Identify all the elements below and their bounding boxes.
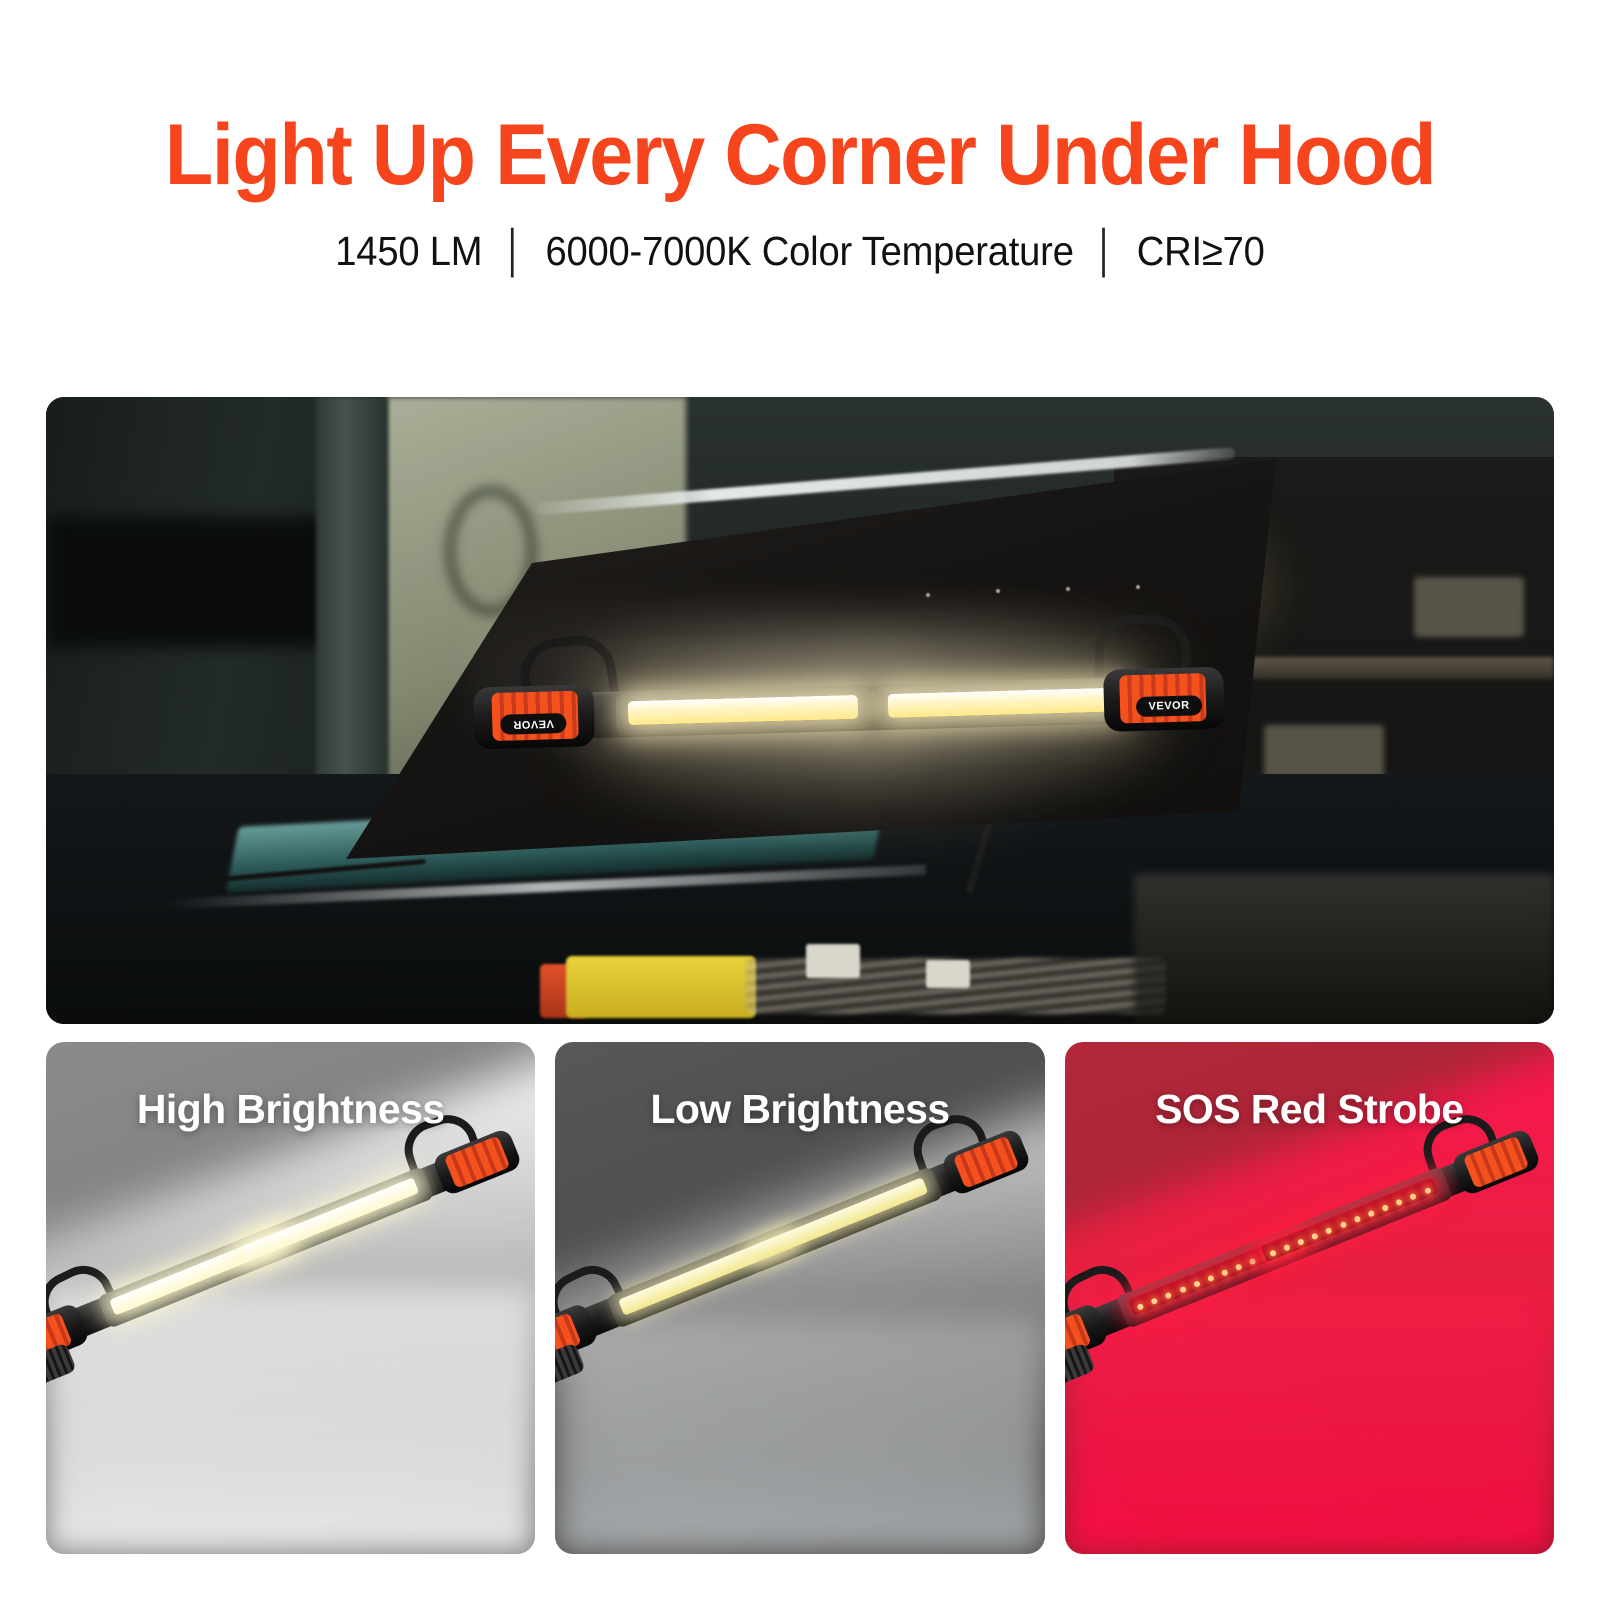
harness-connector: [806, 944, 860, 978]
mode-card-low-brightness: Low Brightness: [555, 1042, 1044, 1554]
spec-separator-2: │: [1084, 228, 1126, 275]
cob-led-strip: [241, 1177, 419, 1262]
center-hinge: [860, 690, 887, 725]
brand-text: VEVOR: [1148, 700, 1189, 712]
page-title: Light Up Every Corner Under Hood: [64, 112, 1536, 198]
mode-card-sos-red-strobe: SOS Red Strobe: [1065, 1042, 1554, 1554]
spec-lumens: 1450 LM: [335, 228, 482, 274]
header: Light Up Every Corner Under Hood 1450 LM…: [0, 0, 1600, 275]
shelf-item: [1414, 577, 1524, 637]
spec-color-temperature: 6000-7000K Color Temperature: [545, 228, 1073, 274]
brand-text: VEVOR: [513, 718, 554, 730]
mode-card-label: High Brightness: [46, 1086, 535, 1133]
mode-card-label: Low Brightness: [555, 1086, 1044, 1133]
brand-logo-right: VEVOR: [1136, 695, 1203, 717]
spec-separator-1: │: [493, 228, 535, 275]
engine-component-yellow: [566, 956, 756, 1018]
hero-image: VEVOR VEVOR: [46, 397, 1554, 1024]
brand-logo-left: VEVOR: [500, 713, 567, 735]
work-light-hero: VEVOR VEVOR: [455, 642, 1248, 774]
adjustment-knob: [555, 1342, 586, 1386]
led-dot-row: [1267, 1184, 1432, 1259]
harness-connector: [926, 960, 970, 988]
adjustment-knob: [1065, 1342, 1096, 1386]
fender: [1134, 874, 1554, 1024]
mode-card-label: SOS Red Strobe: [1065, 1086, 1554, 1133]
spec-cri: CRI≥70: [1137, 228, 1265, 274]
adjustment-knob: [46, 1342, 77, 1386]
mode-card-high-brightness: High Brightness: [46, 1042, 535, 1554]
red-led-strip: [1260, 1177, 1438, 1262]
mode-cards: High Brightness Low Brightness: [46, 1042, 1554, 1554]
garage-shadow-band: [46, 517, 346, 647]
cob-led-strip: [750, 1177, 928, 1262]
spec-line: 1450 LM │ 6000-7000K Color Temperature │…: [56, 228, 1544, 275]
garage-pillar: [316, 397, 388, 837]
